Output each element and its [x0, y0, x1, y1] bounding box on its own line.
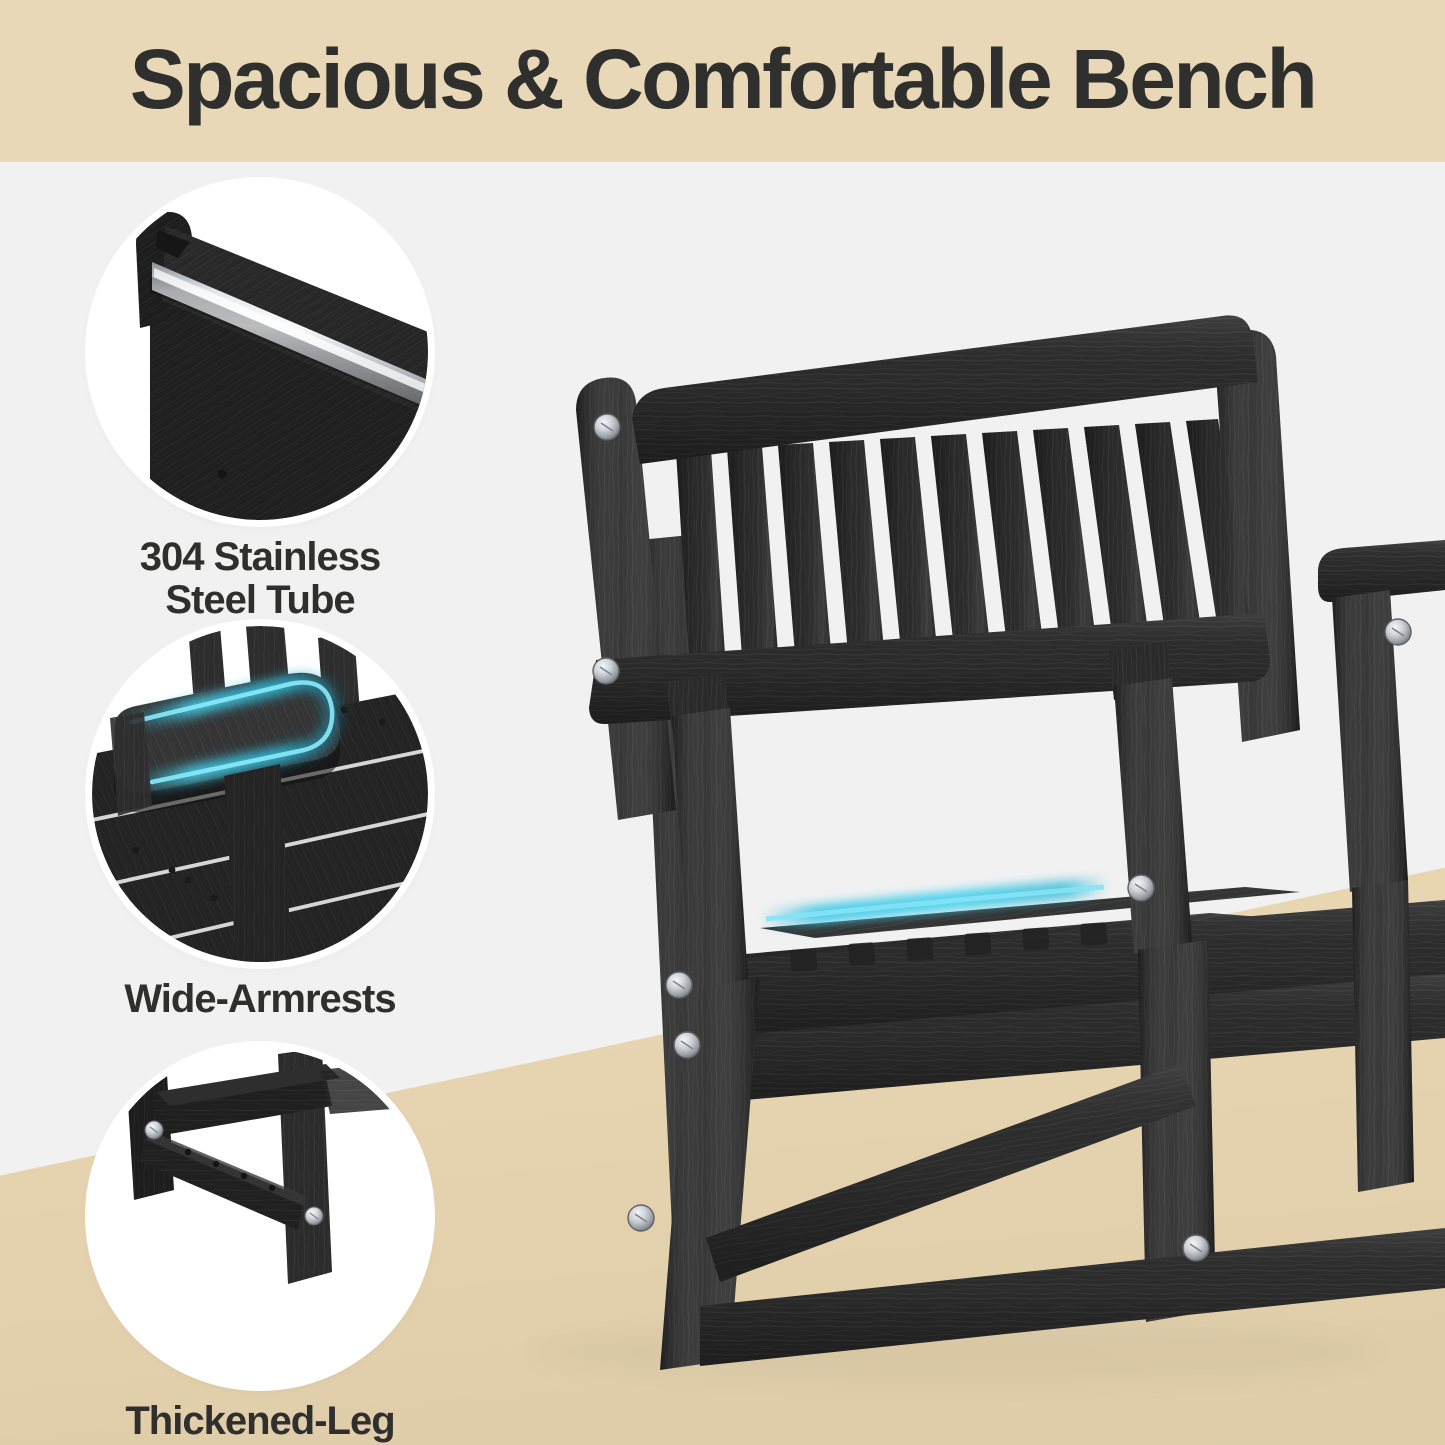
callout-image-stainless-steel-tube: [92, 184, 428, 520]
callout-label-line1: Wide-Armrests: [0, 978, 520, 1021]
callout-label-line2: Steel Tube: [0, 579, 520, 622]
bolt-head: [145, 1121, 163, 1139]
product-feature-image: Spacious & Comfortable Bench: [0, 0, 1445, 1445]
page-title: Spacious & Comfortable Bench: [130, 37, 1316, 121]
armrest-right: [1318, 540, 1445, 892]
callout-stainless-steel-tube: 304 Stainless Steel Tube: [0, 184, 520, 622]
bolt-head: [1128, 875, 1154, 901]
feature-callout-column: 304 Stainless Steel Tube: [0, 162, 520, 1445]
bolt-head: [666, 972, 692, 998]
callout-label-line1: Thickened-Leg: [0, 1400, 520, 1443]
callout-wide-armrests: Wide-Armrests: [0, 626, 520, 1021]
callout-label-thickened-leg: Thickened-Leg: [0, 1400, 520, 1443]
bolt-head: [305, 1207, 323, 1225]
bolt-head: [628, 1205, 654, 1231]
bench-far-leg-right: [1352, 880, 1414, 1192]
bolt-head: [594, 414, 620, 440]
callout-label-wide-armrests: Wide-Armrests: [0, 978, 520, 1021]
bolt-head: [593, 658, 619, 684]
callout-label-stainless-steel-tube: 304 Stainless Steel Tube: [0, 536, 520, 622]
callout-image-thickened-leg: [92, 1048, 428, 1384]
header-banner: Spacious & Comfortable Bench: [0, 0, 1445, 162]
callout-image-wide-armrests: [92, 626, 428, 962]
callout-thickened-leg: Thickened-Leg: [0, 1048, 520, 1443]
bolt-head: [674, 1032, 700, 1058]
callout-label-line1: 304 Stainless: [0, 536, 520, 579]
bolt-head: [1385, 619, 1411, 645]
bolt-head: [1183, 1235, 1209, 1261]
